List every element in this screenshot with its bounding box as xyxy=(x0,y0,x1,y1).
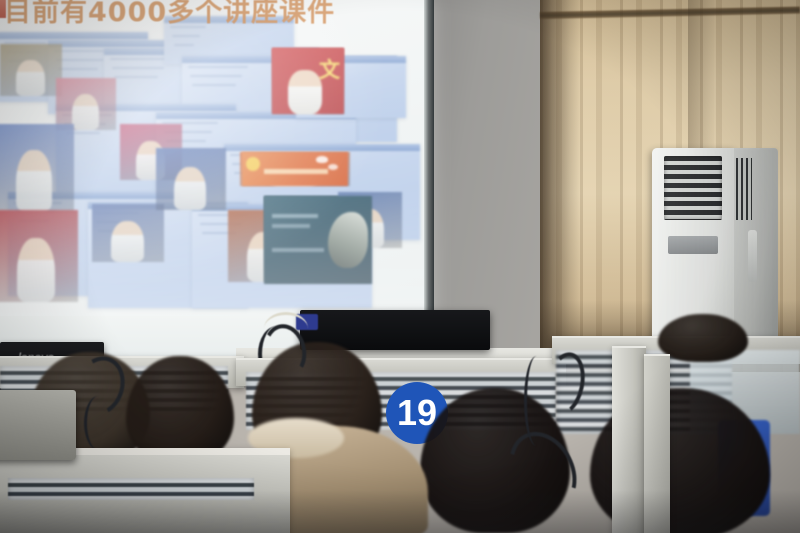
video-thumbnail xyxy=(92,204,164,262)
player-window-titlebar xyxy=(224,144,420,151)
headset-cable-left xyxy=(84,396,113,450)
projection-screen: 文 目前有4000多个讲座课件 xyxy=(0,0,428,322)
window-text-line xyxy=(112,67,164,69)
thumbnail-speaker-figure xyxy=(72,94,100,130)
video-thumbnail xyxy=(56,78,116,130)
thumbnail-speaker-figure xyxy=(17,238,55,302)
red-banner-thumbnail xyxy=(242,152,348,186)
window-text-line xyxy=(188,66,248,68)
foreground-shadow xyxy=(0,490,800,533)
video-thumbnail xyxy=(156,148,226,210)
nature-thumbnail xyxy=(264,196,372,284)
window-text-line xyxy=(114,76,158,78)
classroom-foreground: lenovo 19 xyxy=(0,300,800,533)
thumbnail-speaker-figure xyxy=(16,60,45,96)
wen-character-thumbnail: 文 xyxy=(272,48,344,114)
wen-character: 文 xyxy=(319,54,340,84)
window-text-line xyxy=(174,44,194,46)
screenshot-root: 文 目前有4000多个讲座课件 lenovo 19 xyxy=(0,0,800,533)
window-text-line xyxy=(172,35,200,37)
window-text-line xyxy=(192,84,236,86)
video-thumbnail xyxy=(0,44,62,96)
thumbnail-speaker-figure xyxy=(16,150,52,212)
thumbnail-speaker-figure xyxy=(111,221,144,262)
headset-cable-right xyxy=(524,356,549,446)
student-head xyxy=(658,314,748,362)
window-text-line xyxy=(58,68,98,70)
projection-screen-edge xyxy=(424,0,434,322)
video-thumbnail xyxy=(0,210,78,302)
window-text-line xyxy=(110,58,170,60)
window-text-line xyxy=(56,59,104,61)
window-text-line xyxy=(190,75,242,77)
slide-title: 目前有4000多个讲座课件 xyxy=(4,0,404,30)
player-window-titlebar xyxy=(0,32,148,39)
monitor-front-left xyxy=(0,390,76,460)
thumbnail-speaker-figure xyxy=(174,167,206,210)
window-text-line xyxy=(54,50,110,52)
video-thumbnail xyxy=(0,124,74,212)
